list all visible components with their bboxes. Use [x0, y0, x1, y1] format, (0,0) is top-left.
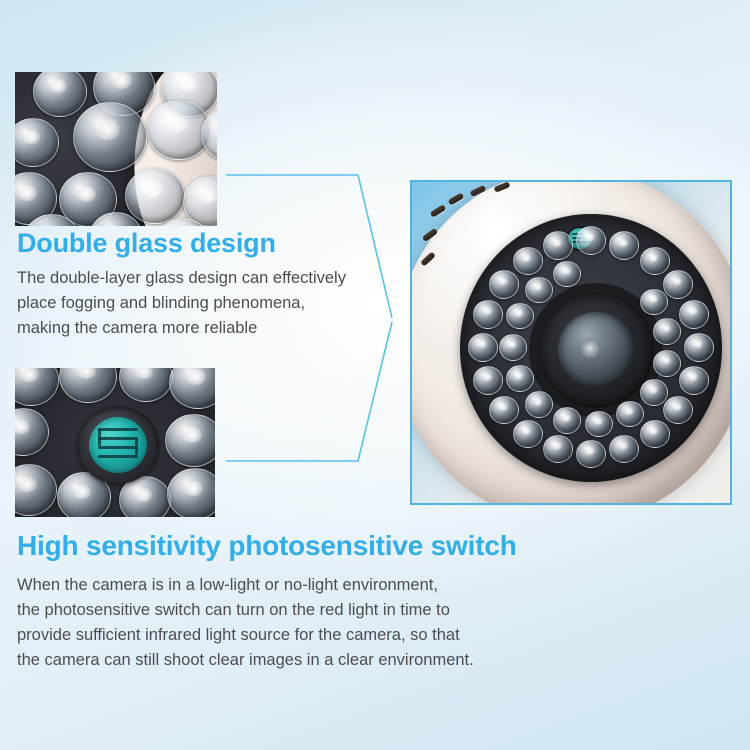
led-lens-icon: [499, 334, 527, 361]
led-lens-icon: [653, 350, 681, 377]
led-lens-icon: [640, 379, 668, 406]
led-lens-icon: [473, 300, 503, 329]
infographic-page: Double glass design The double-layer gla…: [0, 0, 750, 750]
photoresistor-face: [89, 417, 147, 473]
ir-led-board: [460, 214, 722, 482]
led-lens-icon: [468, 333, 498, 362]
page-title-photosensitive-switch: High sensitivity photosensitive switch: [17, 530, 517, 562]
led-lens-icon: [640, 289, 668, 316]
led-lens-icon: [640, 420, 670, 449]
led-lens-icon: [640, 247, 670, 276]
led-lens-icon: [653, 318, 681, 345]
led-lens-icon: [679, 300, 709, 329]
led-lens-icon: [616, 401, 644, 428]
led-lens-icon: [553, 407, 581, 434]
led-closeup-photo: [15, 72, 217, 226]
body-text-photosensitive-switch: When the camera is in a low-light or no-…: [17, 573, 577, 673]
led-lens-icon: [473, 366, 503, 395]
led-lens-icon: [489, 270, 519, 299]
led-lens-icon: [609, 231, 639, 260]
lens-glass: [558, 312, 634, 388]
led-lens-icon: [543, 435, 573, 464]
led-lens-icon: [165, 414, 215, 467]
lens-barrel: [538, 292, 654, 408]
led-lens-icon: [489, 396, 519, 425]
page-title-double-glass: Double glass design: [17, 228, 276, 259]
led-lens-icon: [663, 396, 693, 425]
led-lens-icon: [576, 226, 606, 255]
dome-camera-photo: [410, 180, 732, 505]
led-lens-icon: [609, 435, 639, 464]
led-lens-icon: [125, 168, 185, 224]
led-lens-icon: [679, 366, 709, 395]
led-lens-icon: [525, 391, 553, 418]
photosensor-icon: [77, 406, 159, 484]
led-lens-icon: [663, 270, 693, 299]
led-lens-icon: [553, 261, 581, 288]
led-lens-icon: [543, 231, 573, 260]
led-lens-icon: [513, 247, 543, 276]
led-lens-icon: [73, 102, 147, 172]
connector-bottom: [226, 322, 392, 461]
led-lens-icon: [506, 303, 534, 330]
led-lens-icon: [506, 365, 534, 392]
photoresistor-closeup-photo: [15, 368, 215, 517]
led-lens-icon: [576, 440, 606, 469]
led-lens-icon: [167, 468, 215, 517]
led-lens-icon: [684, 333, 714, 362]
body-text-double-glass: The double-layer glass design can effect…: [17, 266, 417, 341]
led-lens-icon: [525, 277, 553, 304]
led-lens-icon: [585, 411, 613, 438]
led-lens-icon: [513, 420, 543, 449]
